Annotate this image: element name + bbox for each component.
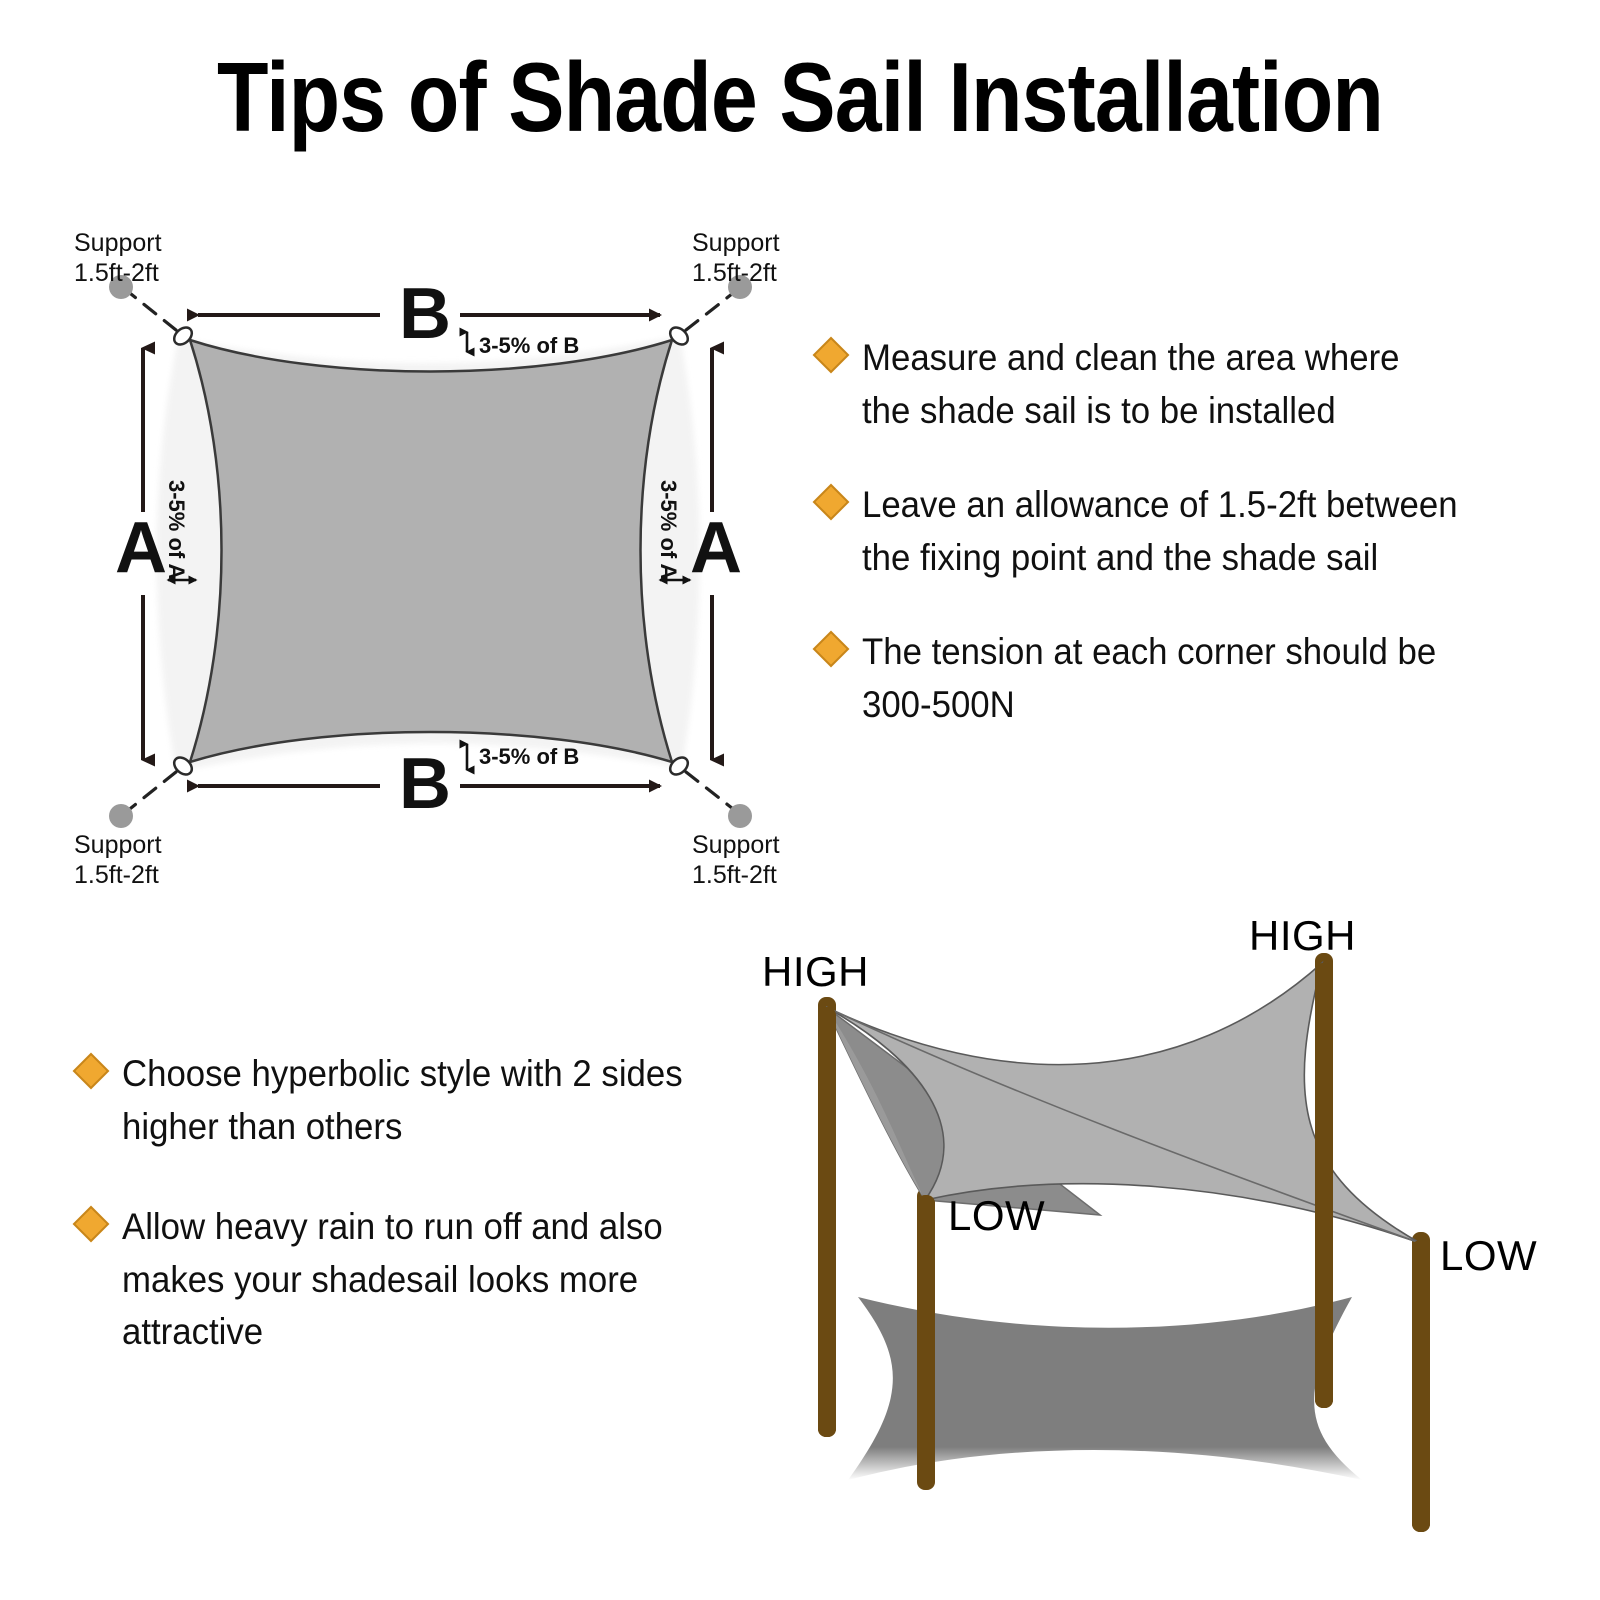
dimension-label-b-top: B: [399, 278, 451, 350]
post-front-low: [917, 1195, 935, 1490]
list-item[interactable]: Choose hyperbolic style with 2 sides hig…: [78, 1048, 798, 1153]
sail-diagonal-fold: [826, 1007, 1420, 1243]
list-item-label: Choose hyperbolic style with 2 sides hig…: [122, 1048, 683, 1153]
list-item-label: The tension at each corner should be 300…: [862, 626, 1436, 731]
dimension-label-a-right: A: [690, 512, 742, 584]
sail-halo: [157, 336, 700, 772]
support-label-top-right: Support 1.5ft-2ft: [692, 228, 780, 288]
shade-sail-fabric: [190, 340, 672, 762]
corner-rings: [171, 324, 691, 778]
curvature-label-left: 3-5% of A: [165, 480, 187, 579]
sail-edge-front-left: [826, 1007, 925, 1200]
list-item[interactable]: Leave an allowance of 1.5-2ft between th…: [818, 479, 1578, 584]
support-label-top-left: Support 1.5ft-2ft: [74, 228, 162, 288]
installation-tips-upper-list: Measure and clean the area where the sha…: [818, 332, 1578, 773]
support-dashed-lines: [126, 290, 737, 812]
sail-panel-rear-left: [826, 1007, 1100, 1215]
support-label-bottom-left: Support 1.5ft-2ft: [74, 830, 162, 890]
curvature-label-bottom: 3-5% of B: [479, 746, 579, 768]
installation-tips-lower-list: Choose hyperbolic style with 2 sides hig…: [78, 1048, 798, 1407]
curvature-label-top: 3-5% of B: [479, 335, 579, 357]
page-title: Tips of Shade Sail Installation: [112, 46, 1488, 149]
diamond-bullet-icon: [813, 631, 850, 668]
post-right-low-back: [1412, 1232, 1430, 1532]
list-item-label: Leave an allowance of 1.5-2ft between th…: [862, 479, 1458, 584]
support-label-bottom-right: Support 1.5ft-2ft: [692, 830, 780, 890]
diamond-bullet-icon: [73, 1053, 110, 1090]
list-item[interactable]: The tension at each corner should be 300…: [818, 626, 1578, 731]
infographic-page: Tips of Shade Sail Installation: [0, 0, 1600, 1600]
post-right-high: [1315, 963, 1333, 1408]
diamond-bullet-icon: [73, 1206, 110, 1243]
dimension-label-a-left: A: [115, 512, 167, 584]
post-front-low-back: [917, 1188, 935, 1488]
post-left-high: [818, 1007, 836, 1437]
list-item-label: Allow heavy rain to run off and also mak…: [122, 1201, 663, 1359]
dimension-label-b-bottom: B: [399, 748, 451, 820]
list-item-label: Measure and clean the area where the sha…: [862, 332, 1400, 437]
list-item[interactable]: Allow heavy rain to run off and also mak…: [78, 1201, 798, 1359]
post-left-high-back: [818, 997, 836, 1437]
post-right-high-back: [1315, 953, 1333, 1408]
corner-label-right-low: LOW: [1440, 1232, 1537, 1280]
list-item[interactable]: Measure and clean the area where the sha…: [818, 332, 1578, 437]
corner-label-front-low: LOW: [948, 1192, 1045, 1240]
curvature-label-right: 3-5% of A: [657, 480, 679, 579]
diamond-bullet-icon: [813, 484, 850, 521]
corner-label-left-high: HIGH: [762, 948, 869, 996]
diamond-bullet-icon: [813, 337, 850, 374]
sail-panel-main: [826, 963, 1420, 1243]
post-right-low: [1412, 1240, 1430, 1532]
corner-label-right-high: HIGH: [1249, 912, 1356, 960]
sail-ground-shadow: [848, 1297, 1362, 1480]
